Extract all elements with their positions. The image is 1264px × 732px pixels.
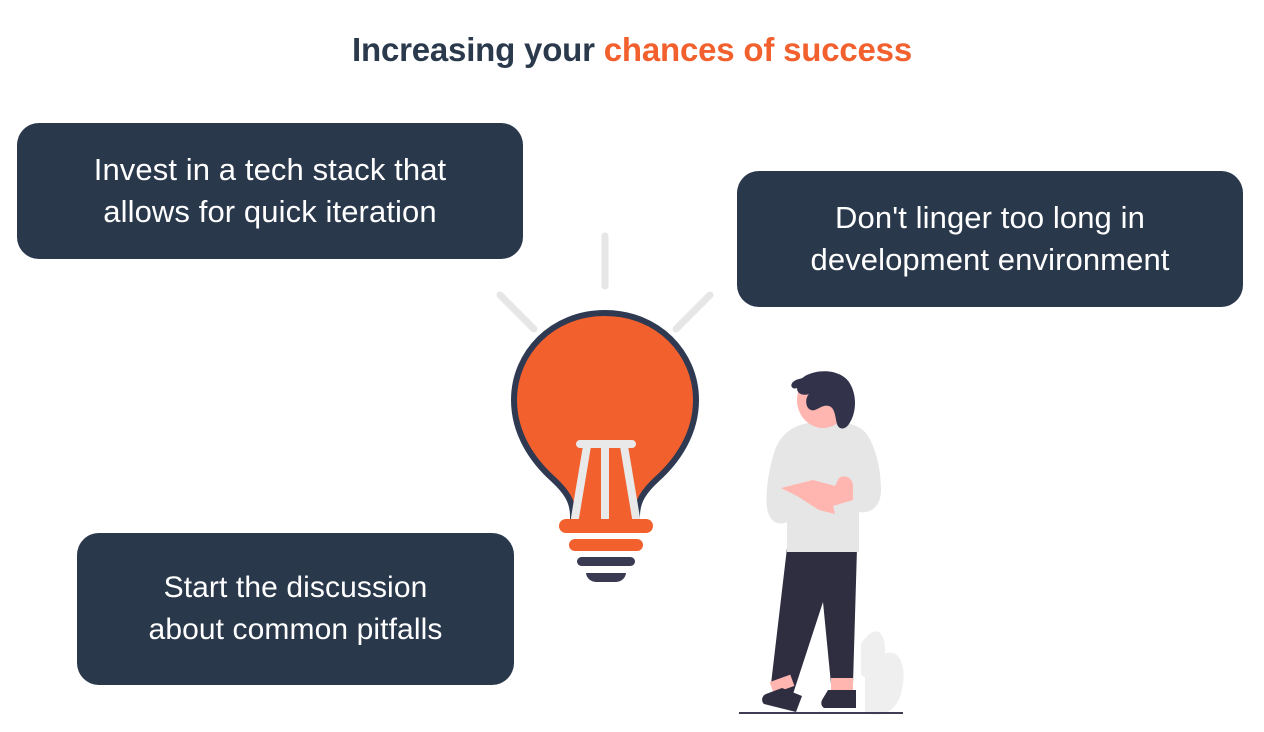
callout-1-line-1: Invest in a tech stack that xyxy=(94,149,447,191)
person-illustration xyxy=(735,372,915,724)
ray-left-icon xyxy=(500,295,534,329)
plant-leaf-icon xyxy=(861,631,904,714)
page-title-lead: Increasing your xyxy=(352,31,604,68)
pants-icon xyxy=(771,548,857,694)
callout-2-line-1: Don't linger too long in xyxy=(810,197,1169,239)
slide-canvas: Increasing your chances of success Inves… xyxy=(0,0,1264,732)
callout-start-discussion[interactable]: Start the discussion about common pitfal… xyxy=(77,533,514,685)
base-ring-1 xyxy=(559,519,653,533)
callout-1-line-2: allows for quick iteration xyxy=(94,191,447,233)
callout-3-line-2: about common pitfalls xyxy=(149,609,443,651)
page-title: Increasing your chances of success xyxy=(0,28,1264,72)
shoes-icon xyxy=(762,688,856,712)
lightbulb-illustration xyxy=(487,228,727,573)
base-ring-3 xyxy=(577,557,635,566)
callout-invest-tech-stack[interactable]: Invest in a tech stack that allows for q… xyxy=(17,123,523,259)
callout-2-line-2: development environment xyxy=(810,239,1169,281)
callout-3-line-1: Start the discussion xyxy=(149,567,443,609)
ray-right-icon xyxy=(676,295,710,329)
lightbulb-base-icon xyxy=(559,519,653,582)
base-ring-2 xyxy=(569,539,643,551)
page-title-accent: chances of success xyxy=(604,31,912,68)
base-ring-4 xyxy=(586,573,626,582)
callout-dont-linger[interactable]: Don't linger too long in development env… xyxy=(737,171,1243,307)
